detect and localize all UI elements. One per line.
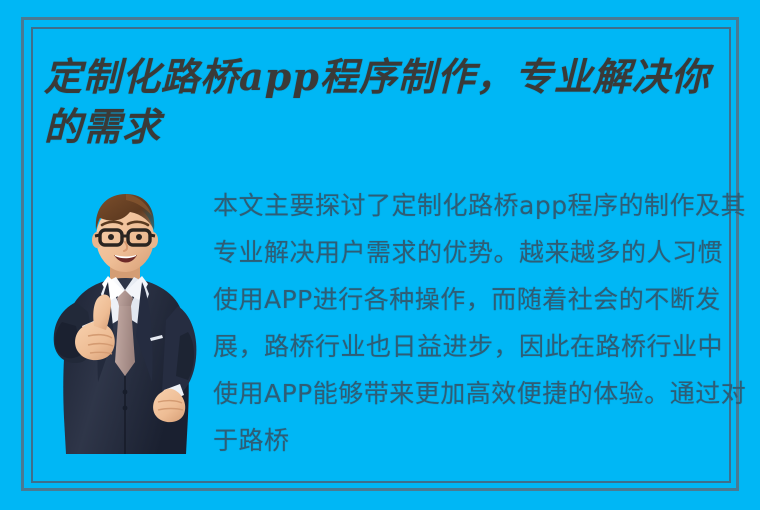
poster-body-text: 本文主要探讨了定制化路桥app程序的制作及其专业解决用户需求的优势。越来越多的人… [213,182,748,464]
poster-title: 定制化路桥app程序制作，专业解决你的需求 [44,52,738,152]
businessman-thumbs-up-illustration [38,186,213,486]
poster-canvas: 定制化路桥app程序制作，专业解决你的需求 本文主要探讨了定制化路桥app程序的… [0,0,760,510]
